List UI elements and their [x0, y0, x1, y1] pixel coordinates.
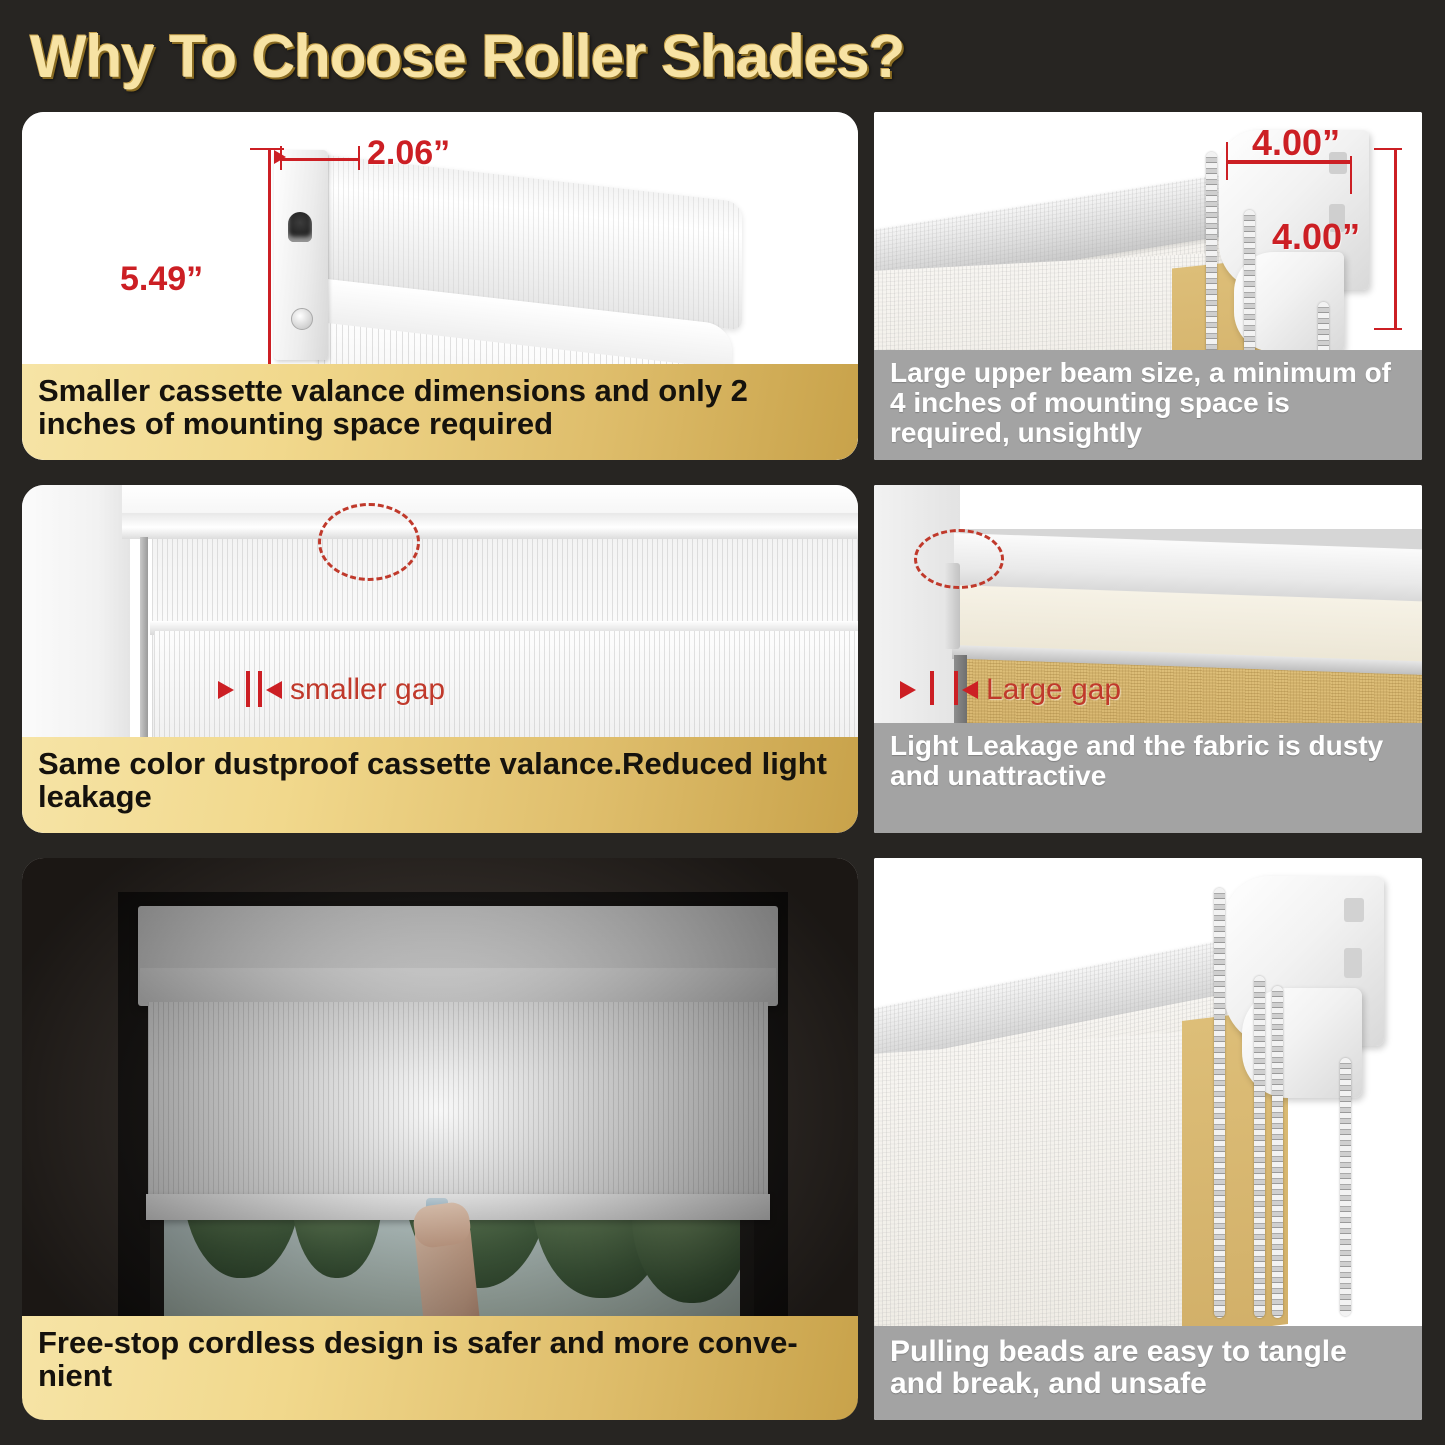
panel-1-caption: Smaller cassette valance dimensions and …: [22, 364, 858, 460]
panel-4-light-leakage: Large gap Light Leakage and the fabric i…: [874, 485, 1422, 833]
bead-chain[interactable]: [1214, 888, 1225, 1318]
panel-1-cassette-dimensions: 2.06” 5.49” Smaller cassette valance dim…: [22, 112, 858, 460]
bead-chain[interactable]: [1340, 1058, 1351, 1316]
page-title: Why To Choose Roller Shades?: [30, 22, 1410, 92]
highlight-ellipse-icon: [914, 529, 1004, 589]
panel-3-caption: Same color dustproof cassette valance.Re…: [22, 737, 858, 833]
dimension-label-height-549: 5.49”: [120, 260, 203, 299]
bracket-slot-icon: [288, 212, 312, 242]
panel-4-caption: Light Leakage and the fabric is dusty an…: [874, 723, 1422, 833]
bead-chain[interactable]: [1254, 976, 1265, 1318]
bead-chain[interactable]: [1272, 986, 1283, 1318]
dimension-label-height-400: 4.00”: [1272, 216, 1360, 258]
gap-label-smaller: smaller gap: [290, 673, 445, 707]
panel-5-cordless-design: Free-stop cordless design is safer and m…: [22, 858, 858, 1420]
bracket-screw-icon: [291, 308, 313, 330]
panel-6-caption: Pulling beads are easy to tangle and bre…: [874, 1326, 1422, 1420]
infographic-root: Why To Choose Roller Shades? 2.06”: [0, 0, 1445, 1445]
bracket-end-plate: [274, 150, 328, 360]
panel-5-caption: Free-stop cordless design is safer and m…: [22, 1316, 858, 1420]
panel-2-large-beam: 4.00” 4.00” Large upper beam size, a min…: [874, 112, 1422, 460]
gap-label-large: Large gap: [986, 673, 1121, 707]
panel-3-dustproof-valance: smaller gap Same color dustproof cassett…: [22, 485, 858, 833]
panel-6-bead-chain-hazard: Pulling beads are easy to tangle and bre…: [874, 858, 1422, 1420]
panel-2-caption: Large upper beam size, a minimum of 4 in…: [874, 350, 1422, 460]
highlight-ellipse-icon: [318, 503, 420, 581]
dimension-label-width-206: 2.06”: [367, 134, 450, 173]
dimension-label-width-400: 4.00”: [1252, 122, 1340, 164]
